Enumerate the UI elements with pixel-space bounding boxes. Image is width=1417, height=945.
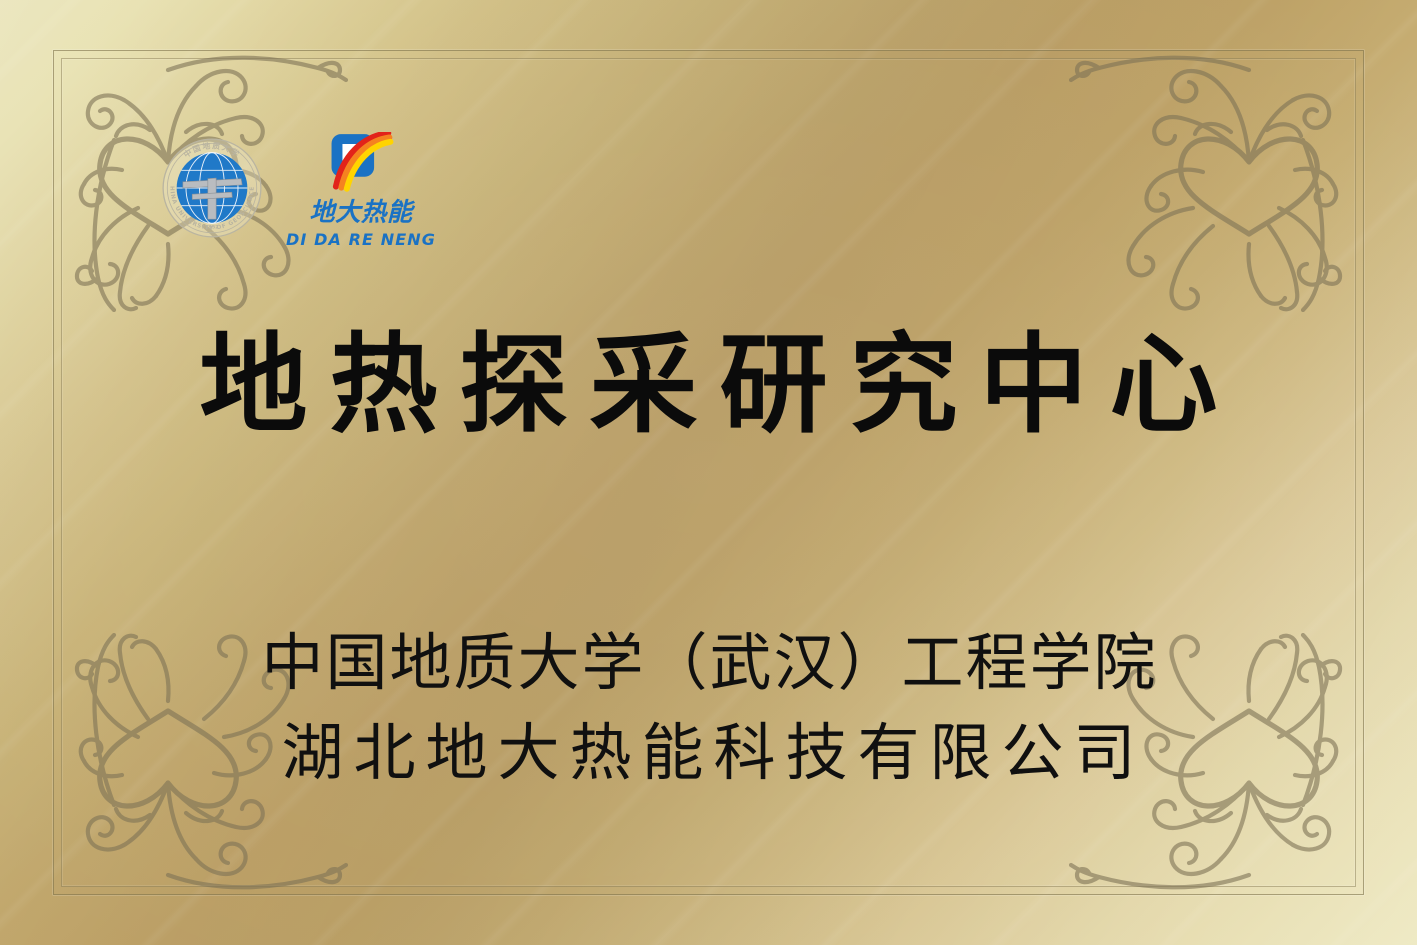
didareneng-english-wordmark: DI DA RE NENG bbox=[286, 232, 436, 248]
corner-ornament-top-right bbox=[1069, 12, 1399, 312]
plaque-subtitle-line-1: 中国地质大学（武汉）工程学院 bbox=[0, 628, 1417, 697]
didareneng-mark-icon bbox=[328, 132, 394, 192]
didareneng-logo: 地大热能 DI DA RE NENG bbox=[286, 132, 436, 248]
plaque-title: 地热探采研究中心 bbox=[0, 330, 1417, 442]
logo-row: 中国地质大学 CHINA UNIVERSITY OF GEOSCIENCES 1… bbox=[160, 128, 436, 248]
plaque-subtitle-line-2: 湖北地大热能科技有限公司 bbox=[0, 718, 1417, 787]
china-university-of-geosciences-emblem: 中国地质大学 CHINA UNIVERSITY OF GEOSCIENCES 1… bbox=[160, 136, 264, 240]
svg-text:地大热能: 地大热能 bbox=[309, 198, 416, 227]
certificate-plaque: 中国地质大学 CHINA UNIVERSITY OF GEOSCIENCES 1… bbox=[0, 0, 1417, 945]
svg-text:1952: 1952 bbox=[206, 225, 219, 231]
didareneng-chinese-wordmark: 地大热能 bbox=[292, 194, 430, 230]
